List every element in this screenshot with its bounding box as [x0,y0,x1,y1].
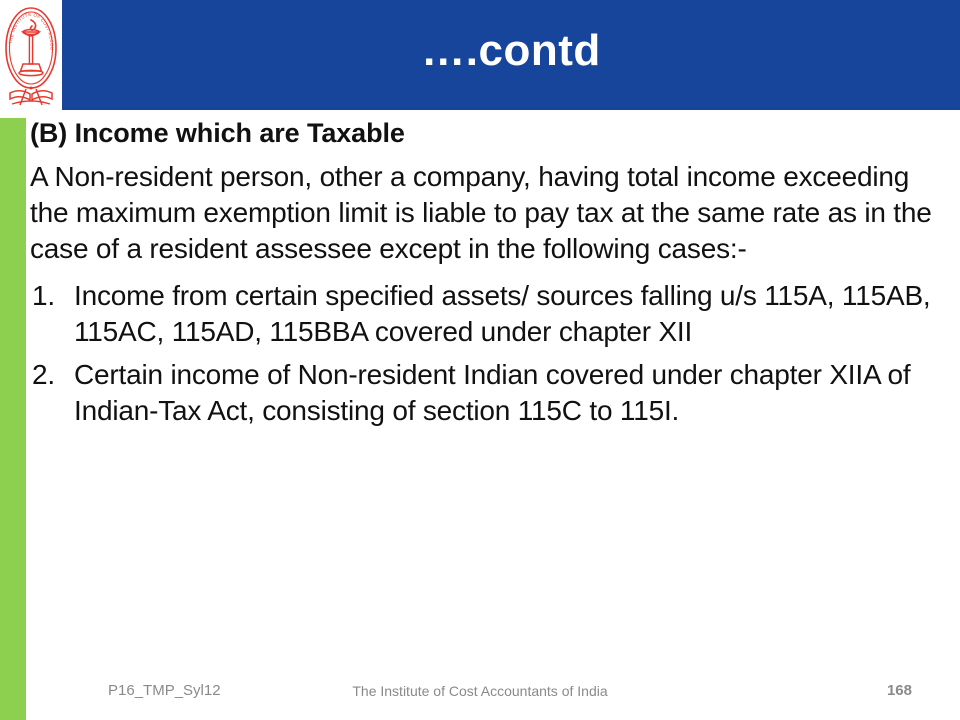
list-item: 1. Income from certain specified assets/… [30,278,942,351]
list-item: 2. Certain income of Non-resident Indian… [30,357,942,430]
left-accent-bar [0,118,26,720]
numbered-list: 1. Income from certain specified assets/… [30,278,942,430]
slide-canvas: THE INSTITUTE OF COST ACCOUNTANTS OF IND… [0,0,960,720]
slide-body: (B) Income which are Taxable A Non-resid… [30,116,942,435]
list-item-text: Certain income of Non-resident Indian co… [74,357,942,430]
footer-organization-name: The Institute of Cost Accountants of Ind… [0,683,960,699]
slide-title: ….contd [62,0,960,110]
institute-of-cost-accountants-of-india-logo-icon: THE INSTITUTE OF COST ACCOUNTANTS OF IND… [2,3,60,109]
slide-footer: P16_TMP_Syl12 The Institute of Cost Acco… [0,682,960,706]
body-paragraph: A Non-resident person, other a company, … [30,159,942,268]
list-item-marker: 2. [30,357,74,430]
list-item-text: Income from certain specified assets/ so… [74,278,942,351]
logo-container: THE INSTITUTE OF COST ACCOUNTANTS OF IND… [0,0,62,112]
section-heading: (B) Income which are Taxable [30,116,942,151]
list-item-marker: 1. [30,278,74,351]
footer-page-number: 168 [887,682,912,699]
